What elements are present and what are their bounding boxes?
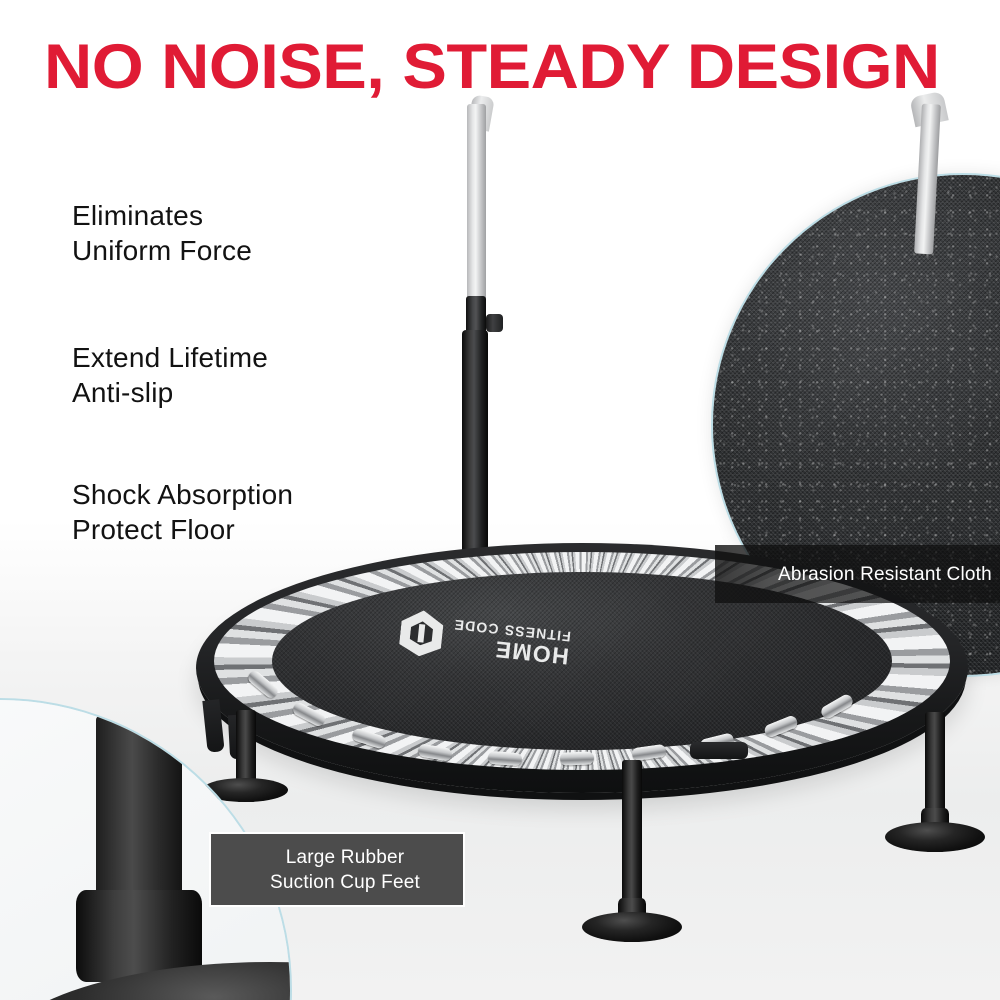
feature-text-2: Shock Absorption Protect Floor xyxy=(72,477,293,547)
height-adjust-knob xyxy=(486,314,503,332)
trampoline-leg xyxy=(622,760,642,942)
handlebar-foam-grip xyxy=(467,104,486,300)
feature-text-0: Eliminates Uniform Force xyxy=(72,198,252,268)
inset-leg-tube xyxy=(96,716,182,908)
trampoline-leg xyxy=(236,710,254,802)
page-title: NO NOISE, STEADY DESIGN xyxy=(44,34,1000,102)
suction-cup-foot xyxy=(885,822,985,852)
spring xyxy=(560,751,594,765)
trampoline-leg xyxy=(925,712,945,852)
handlebar-lower-tube xyxy=(462,330,488,575)
callout-abrasion-resistant-cloth: Abrasion Resistant Cloth xyxy=(715,545,1000,603)
spring xyxy=(488,751,523,766)
suction-cup-foot xyxy=(582,912,682,942)
product-infographic: HOME FITNESS CODE xyxy=(0,0,1000,1000)
feature-text-1: Extend Lifetime Anti-slip xyxy=(72,340,268,410)
callout-large-rubber-suction-cup-feet: Large Rubber Suction Cup Feet xyxy=(211,834,463,905)
frame-bracket xyxy=(690,742,748,759)
